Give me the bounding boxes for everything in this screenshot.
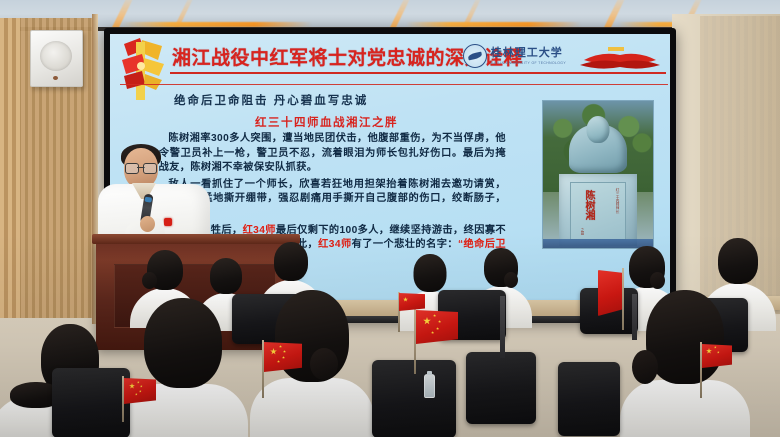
speaker-indicator bbox=[53, 76, 58, 80]
eyeglasses-icon bbox=[125, 163, 157, 172]
water-bottle bbox=[424, 374, 435, 398]
chair-back bbox=[466, 352, 536, 424]
slide-subtitle: 绝命后卫命阻击 丹心碧血写忠诚 bbox=[174, 92, 368, 108]
lecture-hall-photo: 湘江战役中红军将士对党忠诚的深刻诠释 桂林理工大学 GUILIN UNIVERS… bbox=[0, 0, 780, 437]
plaque-inscription: 红三十四师师长 bbox=[616, 188, 620, 213]
china-flag bbox=[122, 376, 156, 422]
header-divider bbox=[120, 84, 668, 85]
red-ribbon-banner-icon bbox=[578, 46, 662, 72]
speaker-driver-icon bbox=[40, 41, 72, 71]
title-divider bbox=[170, 72, 666, 74]
presenter-hand bbox=[140, 216, 155, 232]
ceiling bbox=[0, 0, 780, 30]
university-name-cn: 桂林理工大学 bbox=[491, 48, 566, 59]
university-name-en: GUILIN UNIVERSITY OF TECHNOLOGY bbox=[491, 61, 566, 65]
university-emblem-icon bbox=[463, 44, 487, 68]
chair-post bbox=[500, 296, 505, 358]
chair-back bbox=[558, 362, 620, 436]
wall-speaker bbox=[30, 30, 83, 87]
plaque-name: 陈树湘 bbox=[583, 190, 594, 220]
university-logo: 桂林理工大学 GUILIN UNIVERSITY OF TECHNOLOGY bbox=[463, 44, 566, 68]
china-flag bbox=[398, 292, 426, 332]
red-flag-emblem-icon bbox=[118, 36, 170, 102]
party-badge-icon bbox=[164, 218, 172, 226]
chair-back bbox=[52, 368, 130, 437]
china-flag bbox=[700, 342, 734, 398]
china-flag bbox=[598, 268, 624, 330]
statue-photo: 红三十四师师长 陈树湘 之墓 bbox=[542, 100, 654, 249]
audience bbox=[0, 232, 780, 437]
china-flag bbox=[262, 340, 302, 398]
statue-head bbox=[587, 116, 610, 143]
slide-section-heading: 红三十四师血战湘江之胖 bbox=[255, 114, 398, 130]
